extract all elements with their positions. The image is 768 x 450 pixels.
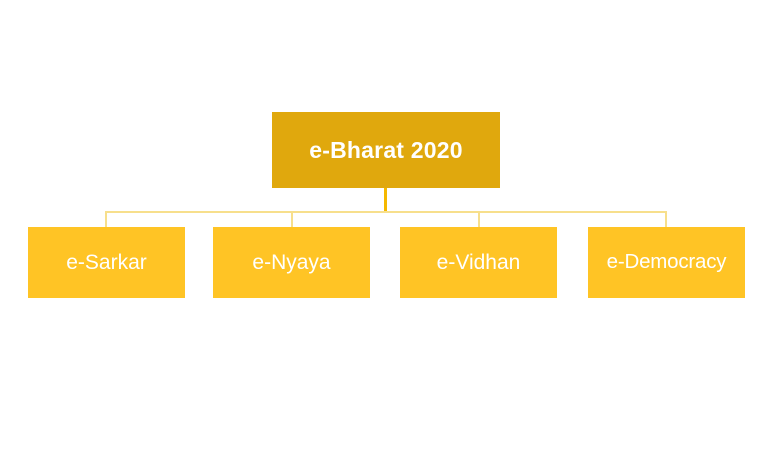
connector-drop-e-sarkar <box>105 211 107 227</box>
child-node-e-democracy[interactable]: e-Democracy <box>588 227 745 298</box>
child-node-e-nyaya[interactable]: e-Nyaya <box>213 227 370 298</box>
connector-drop-e-vidhan <box>478 211 480 227</box>
connector-drop-e-nyaya <box>291 211 293 227</box>
connector-drop-e-democracy <box>665 211 667 227</box>
child-node-label-e-democracy: e-Democracy <box>607 252 727 273</box>
child-node-e-vidhan[interactable]: e-Vidhan <box>400 227 557 298</box>
child-node-label-e-sarkar: e-Sarkar <box>66 252 147 273</box>
root-node-e-bharat[interactable]: e-Bharat 2020 <box>272 112 500 188</box>
org-chart-canvas: e-Bharat 2020 e-Sarkar e-Nyaya e-Vidhan … <box>0 0 768 450</box>
child-node-e-sarkar[interactable]: e-Sarkar <box>28 227 185 298</box>
child-node-label-e-vidhan: e-Vidhan <box>437 252 521 273</box>
connector-root-stem <box>384 188 387 211</box>
root-node-label: e-Bharat 2020 <box>309 139 462 162</box>
child-node-label-e-nyaya: e-Nyaya <box>252 252 330 273</box>
connector-horizontal-bus <box>105 211 666 213</box>
